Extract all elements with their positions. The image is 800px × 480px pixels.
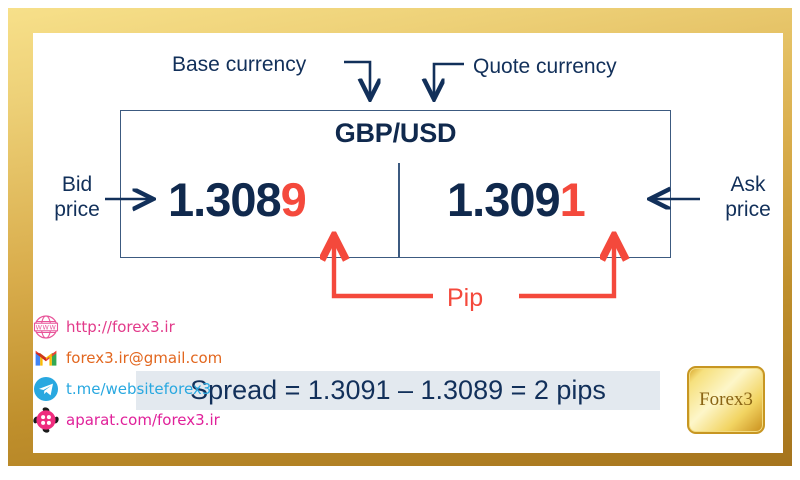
ask-pip-digit: 1 [560, 173, 585, 226]
contact-text-aparat: aparat.com/forex3.ir [66, 411, 220, 429]
label-quote-currency: Quote currency [473, 54, 617, 79]
ask-price-main: 1.309 [447, 173, 560, 226]
contact-text-website: http://forex3.ir [66, 318, 175, 336]
forex3-logo-text: Forex3 [699, 389, 753, 411]
label-pip: Pip [447, 284, 483, 313]
ask-price-value: 1.3091 [447, 172, 585, 227]
contact-row-telegram[interactable]: t.me/websiteforex3 [33, 373, 222, 404]
contact-row-aparat[interactable]: aparat.com/forex3.ir [33, 404, 222, 435]
label-bid-price: Bid price [38, 172, 116, 222]
label-base-currency: Base currency [172, 52, 306, 77]
diagram-canvas: GBP/USD 1.3089 1.3091 Base currency Quot… [0, 0, 800, 480]
bid-price-value: 1.3089 [168, 172, 306, 227]
svg-text:WWW: WWW [36, 323, 57, 331]
contact-row-email[interactable]: forex3.ir@gmail.com [33, 342, 222, 373]
bid-price-main: 1.308 [168, 173, 281, 226]
contact-text-telegram: t.me/websiteforex3 [66, 380, 211, 398]
label-ask-price: Ask price [709, 172, 787, 222]
telegram-icon [33, 376, 59, 402]
contact-row-website[interactable]: WWW http://forex3.ir [33, 311, 222, 342]
gmail-icon [33, 345, 59, 371]
contact-list: WWW http://forex3.ir forex3.ir@gmail.com [33, 311, 222, 435]
currency-pair-title: GBP/USD [120, 118, 671, 149]
bid-pip-digit: 9 [281, 173, 306, 226]
aparat-icon [33, 407, 59, 433]
quote-box-divider [398, 163, 400, 258]
www-globe-icon: WWW [33, 314, 59, 340]
forex3-logo[interactable]: Forex3 [687, 366, 765, 434]
contact-text-email: forex3.ir@gmail.com [66, 349, 222, 367]
